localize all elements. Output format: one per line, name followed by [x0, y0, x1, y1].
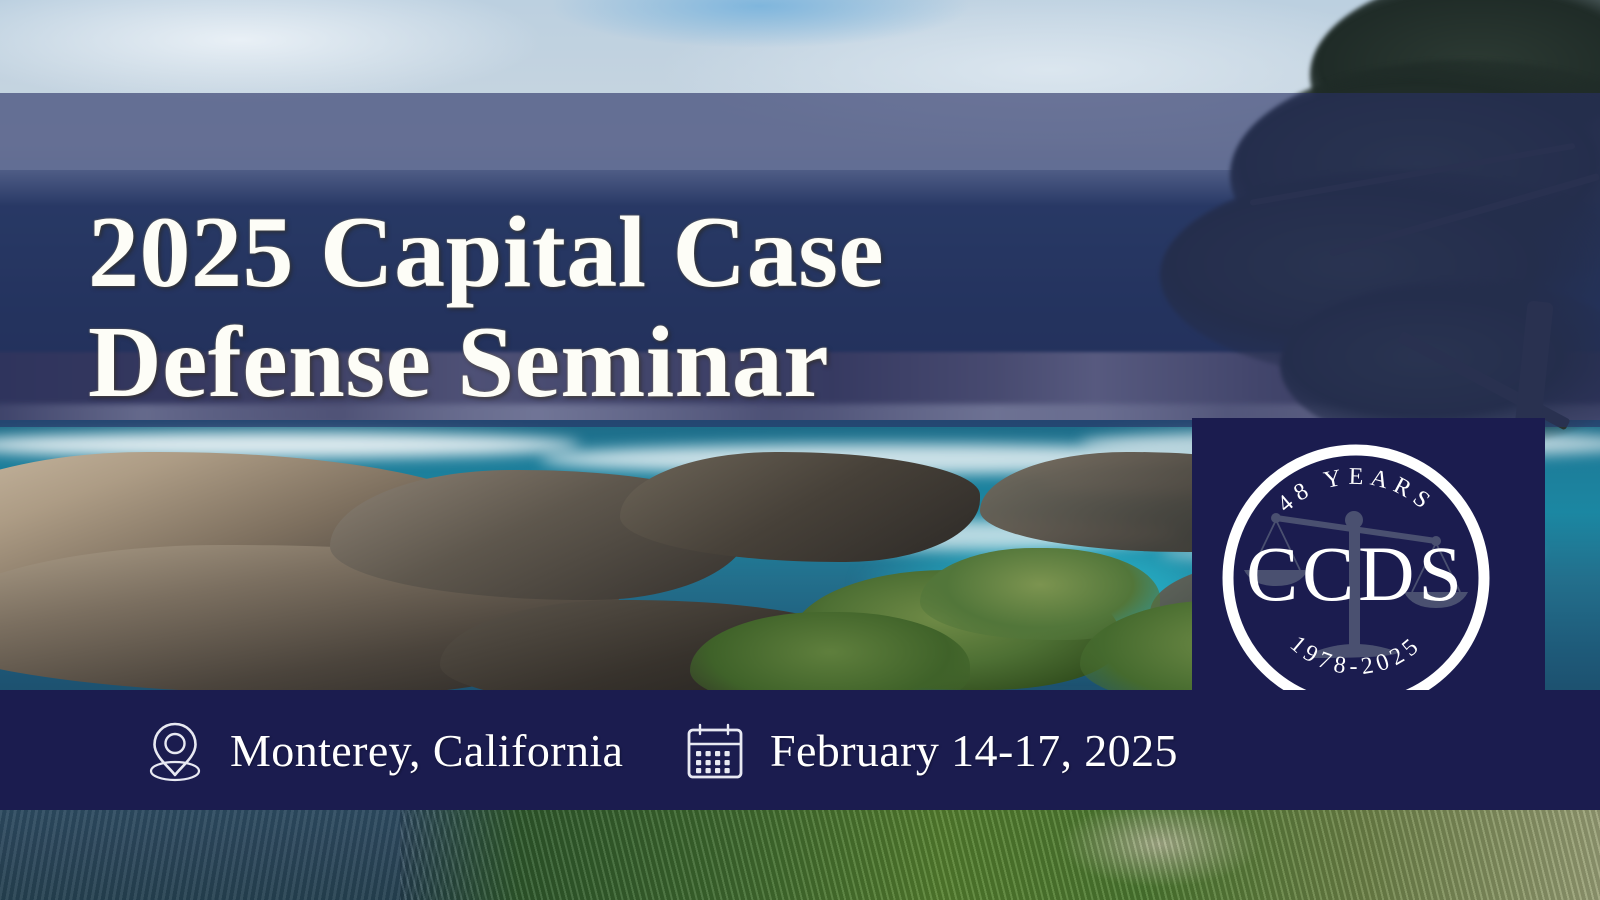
- foreground-vegetation: [400, 800, 1600, 900]
- location-text: Monterey, California: [230, 724, 623, 777]
- svg-text:48 YEARS: 48 YEARS: [1273, 464, 1439, 518]
- calendar-icon: [682, 717, 748, 783]
- logo-monogram: CCDS: [1246, 530, 1466, 617]
- page-title: 2025 Capital Case Defense Seminar: [88, 198, 1088, 418]
- hero-banner: 2025 Capital Case Defense Seminar: [0, 0, 1600, 900]
- date-text: February 14-17, 2025: [770, 724, 1178, 777]
- ccds-logo[interactable]: CCDS 48 YEARS 1978-2025: [1218, 440, 1494, 716]
- date-info: February 14-17, 2025: [682, 690, 1178, 810]
- rock-formation: [620, 452, 980, 562]
- location-info: Monterey, California: [142, 690, 623, 810]
- logo-top-arc-text: 48 YEARS: [1273, 464, 1439, 518]
- location-pin-icon: [142, 717, 208, 783]
